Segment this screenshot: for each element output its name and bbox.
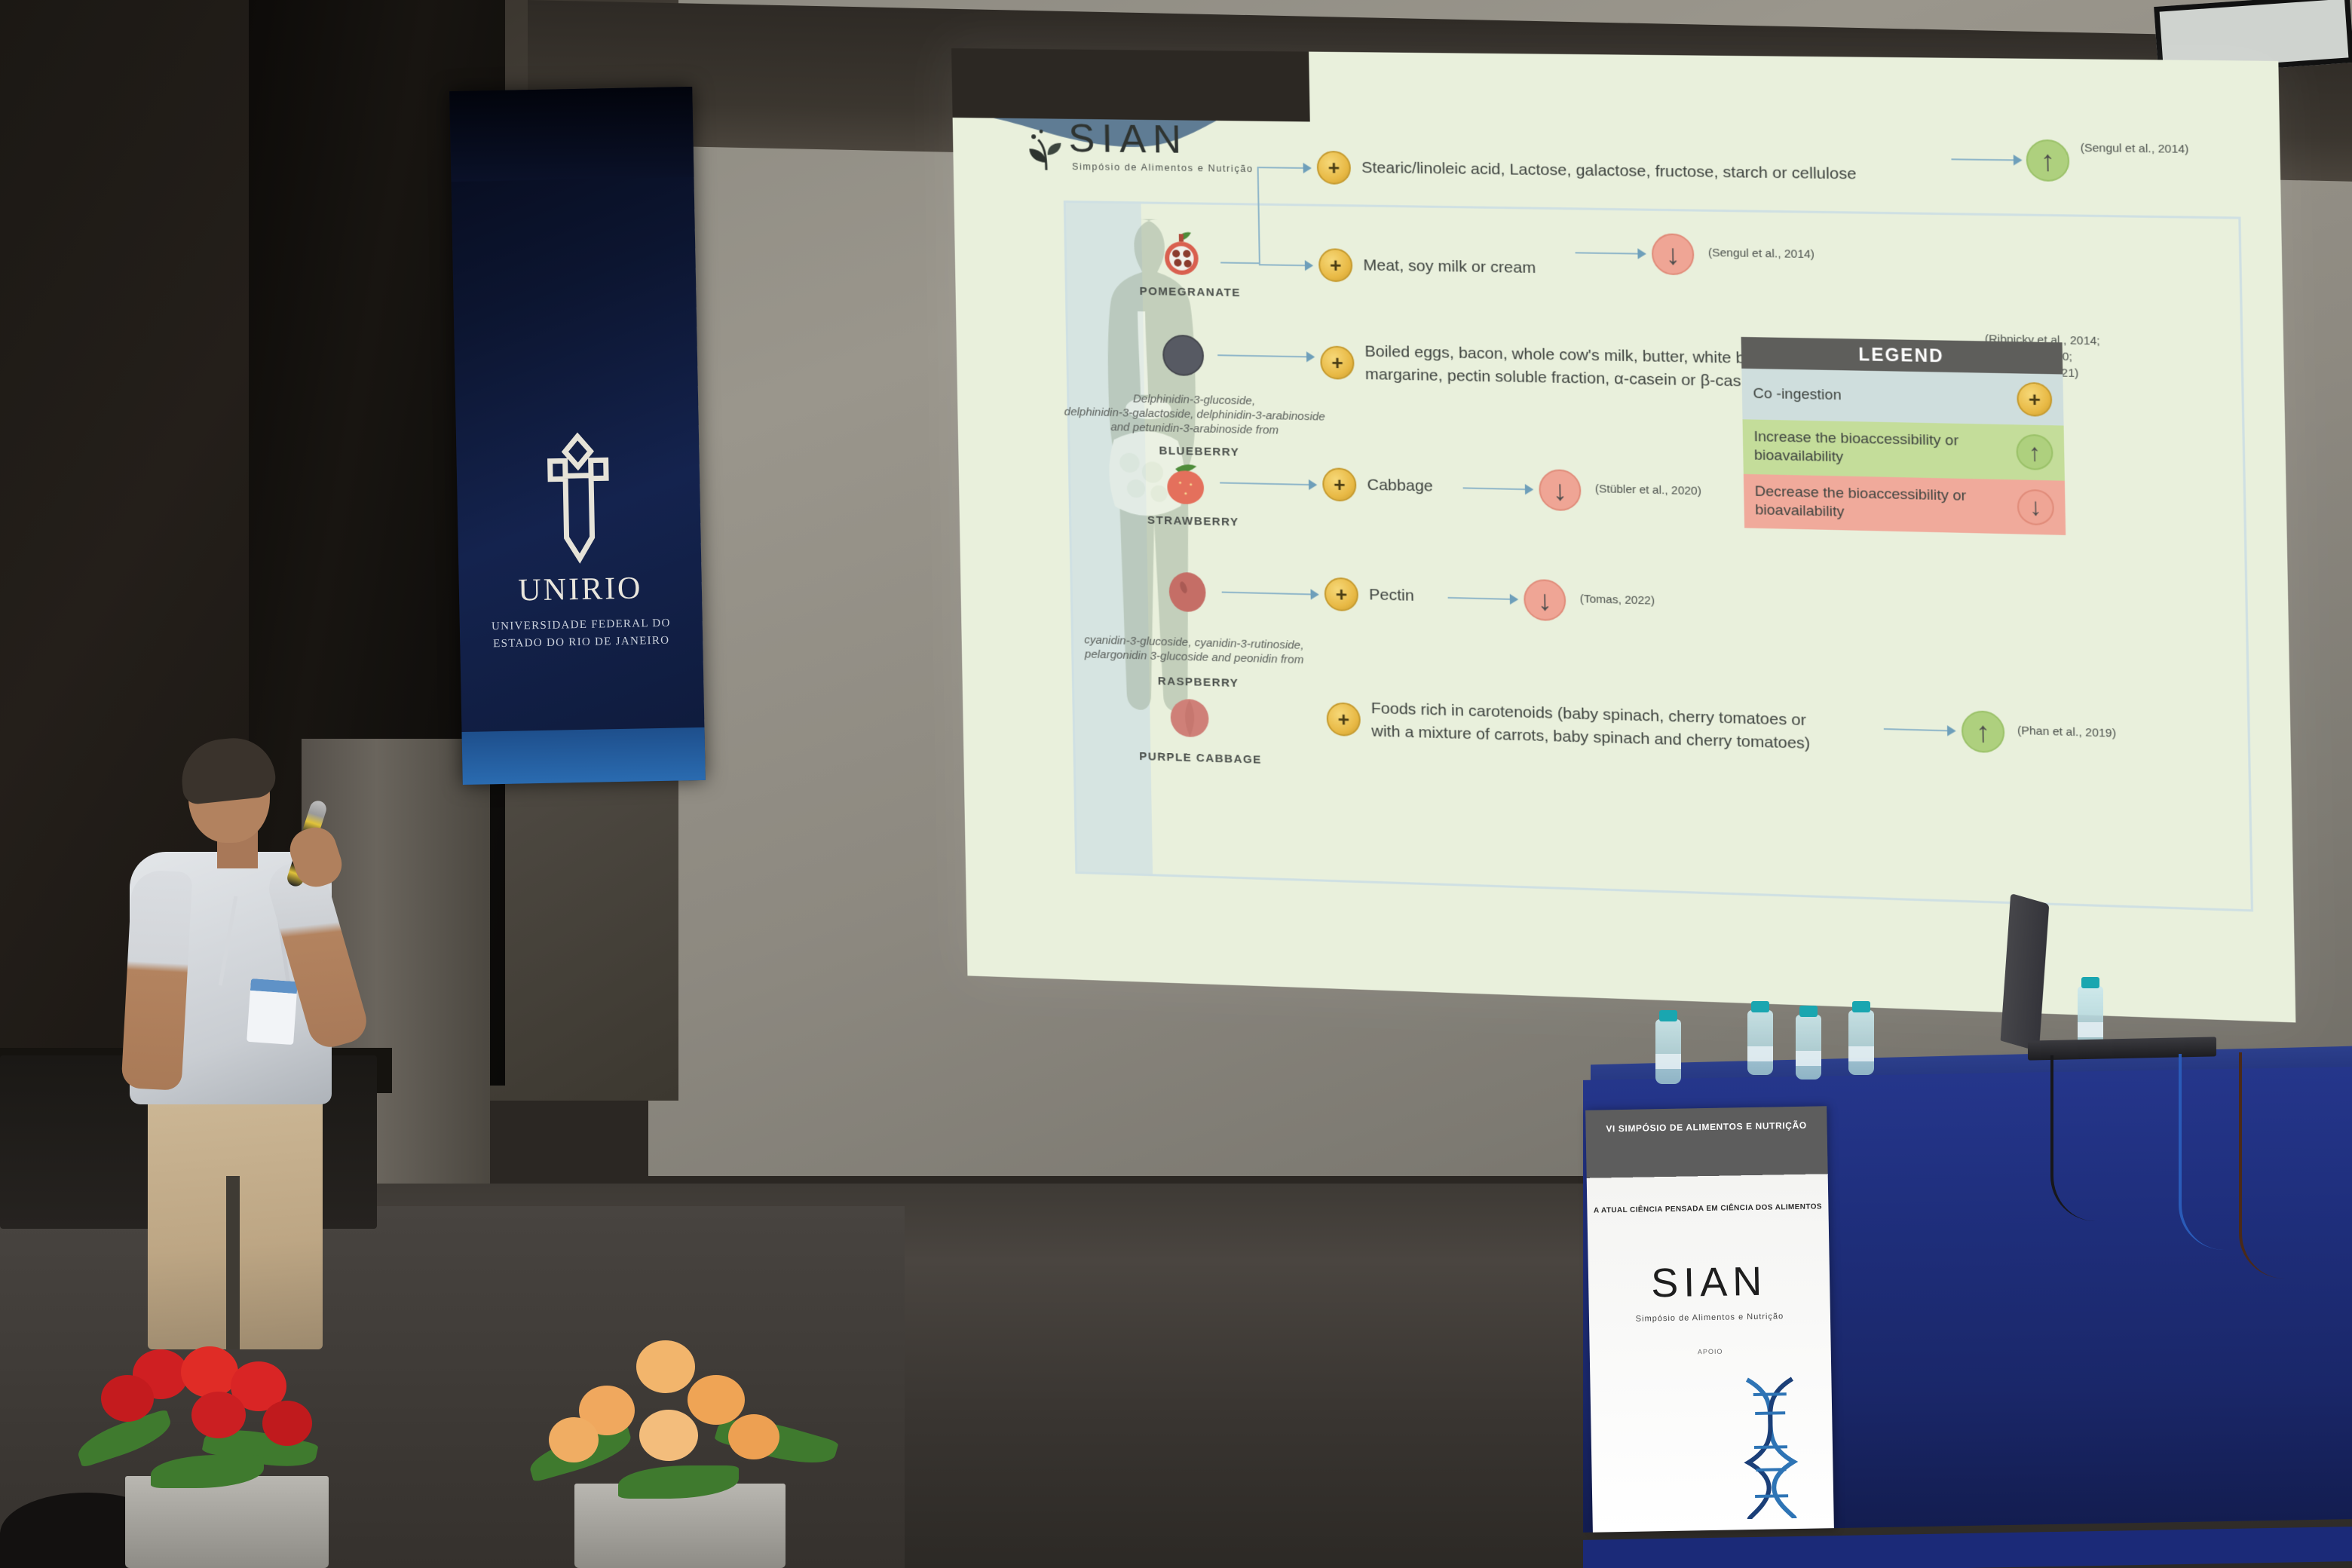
flower-bloom (101, 1375, 154, 1422)
name-badge (247, 978, 298, 1045)
symposium-title: VI SIMPÓSIO DE ALIMENTOS E NUTRIÇÃO (1585, 1119, 1827, 1135)
blueberry-icon (1159, 331, 1208, 379)
presenter-left-arm (121, 869, 192, 1091)
fruit-label-raspberry: RASPBERRY (1158, 675, 1239, 690)
arrow-down-icon: ↓ (1652, 233, 1695, 275)
purple-cabbage-icon (1165, 693, 1214, 741)
branch-row-1b: + Meat, soy milk or cream (1318, 248, 1536, 285)
arrow-head-icon (2014, 155, 2023, 166)
cable (2239, 1052, 2284, 1279)
auditorium-scene: SIAN Simpósio de Alimentos e Nutrição (0, 0, 2352, 1568)
branch-row-2: + Boiled eggs, bacon, whole cow's milk, … (1320, 339, 1784, 394)
branch-text: Stearic/linoleic acid, Lactose, galactos… (1361, 157, 1857, 186)
sprout-leaf-icon (1024, 124, 1067, 172)
arrow-head-icon (1947, 725, 1956, 737)
table-skirt-banner: VI SIMPÓSIO DE ALIMENTOS E NUTRIÇÃO A AT… (1585, 1106, 1834, 1532)
legend-label: Decrease the bioaccessibility or bioavai… (1755, 482, 1993, 525)
sian-logo-text: SIAN (1068, 116, 1189, 163)
arrow-head-icon (1637, 248, 1646, 259)
presentation-slide: SIAN Simpósio de Alimentos e Nutrição (951, 48, 2295, 1022)
bottle-label (2078, 1022, 2103, 1037)
citation: (Sengul et al., 2014) (1708, 245, 1815, 263)
unirio-crest-icon (528, 431, 629, 565)
chem-line: delphinidin-3-galactoside, delphinidin-3… (1064, 406, 1325, 424)
flower-bloom (728, 1414, 779, 1459)
arrow-up-icon: ↑ (2026, 139, 2069, 182)
legend-item-co-ingestion: Co -ingestion + (1741, 369, 2063, 426)
dna-helix-icon (1732, 1375, 1817, 1520)
water-bottle-icon (1796, 1015, 1821, 1080)
plus-circle-icon: + (1317, 151, 1352, 185)
chem-names-blueberry: Delphinidin-3-glucoside, delphinidin-3-g… (1012, 390, 1379, 439)
plus-circle-icon: + (1325, 577, 1359, 612)
arrow-head-icon (1310, 589, 1318, 599)
fruit-label-strawberry: STRAWBERRY (1147, 514, 1239, 529)
bottle-label (1655, 1054, 1681, 1069)
flower-bloom (639, 1410, 698, 1461)
legend-label: Increase the bioaccessibility or bioavai… (1753, 428, 1992, 470)
symposium-subtitle: A ATUAL CIÊNCIA PENSADA EM CIÊNCIA DOS A… (1587, 1202, 1828, 1215)
water-bottle-icon (1848, 1010, 1874, 1075)
sian-logo-subtitle: Simpósio de Alimentos e Nutrição (1072, 161, 1254, 174)
bottle-label (1848, 1046, 1874, 1061)
arrow-head-icon (1525, 484, 1534, 495)
pomegranate-icon (1157, 231, 1205, 278)
support-label: APOIO (1590, 1346, 1831, 1358)
flower-bloom (636, 1340, 695, 1393)
sian-logo-subtitle: Simpósio de Alimentos e Nutrição (1589, 1311, 1830, 1325)
cable (2050, 1055, 2096, 1221)
raspberry-icon (1163, 565, 1211, 614)
plus-circle-icon: + (1320, 345, 1355, 379)
sian-logo-text: SIAN (1588, 1257, 1830, 1308)
plus-circle-icon: + (1318, 248, 1353, 282)
legend-item-decrease: Decrease the bioaccessibility or bioavai… (1744, 473, 2066, 535)
arrow-head-icon (1510, 594, 1519, 605)
flower-bloom (262, 1401, 312, 1446)
citation: (Phan et al., 2019) (2017, 723, 2116, 742)
planter (125, 1476, 329, 1568)
arrow-head-icon (1309, 479, 1317, 490)
chem-line: Delphinidin-3-glucoside, (1133, 392, 1255, 407)
banner-top-fold (449, 87, 694, 182)
plus-circle-icon: + (2017, 382, 2052, 417)
banner-line2: ESTADO DO RIO DE JANEIRO (493, 634, 669, 649)
fruit-label-pomegranate: POMEGRANATE (1139, 285, 1241, 299)
strawberry-icon (1162, 458, 1210, 507)
legend-item-increase: Increase the bioaccessibility or bioavai… (1743, 419, 2065, 480)
arrow-down-icon: ↓ (2017, 489, 2055, 525)
banner-institution: UNIVERSIDADE FEDERAL DO ESTADO DO RIO DE… (460, 614, 703, 653)
branch-text: Meat, soy milk or cream (1363, 254, 1536, 280)
citation: (Sengul et al., 2014) (2080, 140, 2188, 158)
arrow-head-icon (1305, 260, 1313, 271)
plus-circle-icon: + (1322, 467, 1357, 501)
unirio-banner: UNIRIO UNIVERSIDADE FEDERAL DO ESTADO DO… (449, 87, 706, 785)
legend-label: Co -ingestion (1753, 384, 1842, 405)
presenter-leg-gap (226, 1176, 240, 1349)
connector (1257, 167, 1305, 169)
branch-row-4: + Pectin (1325, 577, 1415, 613)
branch-row-1a: + Stearic/linoleic acid, Lactose, galact… (1317, 151, 1857, 191)
bottle-cap (1799, 1006, 1818, 1017)
water-bottle-icon (1747, 1010, 1773, 1075)
bottle-label (1747, 1046, 1773, 1061)
citation: (Tomas, 2022) (1579, 591, 1655, 609)
slide-content-panel (1064, 201, 2253, 911)
banner-acronym: UNIRIO (458, 569, 702, 610)
bottle-cap (1659, 1010, 1677, 1021)
banner-bottom-band (462, 727, 706, 785)
flower-bloom (191, 1392, 246, 1438)
sian-logo: SIAN Simpósio de Alimentos e Nutrição (1024, 111, 1262, 197)
arrow-up-icon: ↑ (2016, 434, 2053, 470)
branch-text: Pectin (1369, 583, 1414, 608)
branch-row-3: + Cabbage (1322, 467, 1433, 504)
arrow-head-icon (1303, 163, 1312, 173)
cable (2179, 1054, 2231, 1250)
chem-line: and petunidin-3-arabinoside from (1110, 421, 1279, 437)
water-bottle-icon (1655, 1019, 1681, 1084)
citation: (Stübler et al., 2020) (1595, 481, 1701, 499)
projection-screen: SIAN Simpósio de Alimentos e Nutrição (951, 48, 2295, 1022)
bottle-cap (1852, 1001, 1870, 1012)
bottle-label (1796, 1051, 1821, 1066)
legend-box: LEGEND Co -ingestion + Increase the bioa… (1741, 337, 2066, 535)
plus-circle-icon: + (1326, 702, 1361, 737)
arrow-head-icon (1306, 351, 1315, 362)
flower-bloom (181, 1346, 238, 1398)
flower-bloom (549, 1417, 599, 1462)
bottle-cap (1751, 1001, 1769, 1012)
connector (1951, 158, 2015, 161)
bottle-cap (2081, 977, 2099, 988)
branch-text: Cabbage (1367, 474, 1433, 498)
flower-bloom (688, 1375, 745, 1425)
banner-line1: UNIVERSIDADE FEDERAL DO (492, 617, 671, 633)
screen-top-shadow (951, 48, 1310, 121)
fruit-label-blueberry: BLUEBERRY (1159, 444, 1239, 458)
